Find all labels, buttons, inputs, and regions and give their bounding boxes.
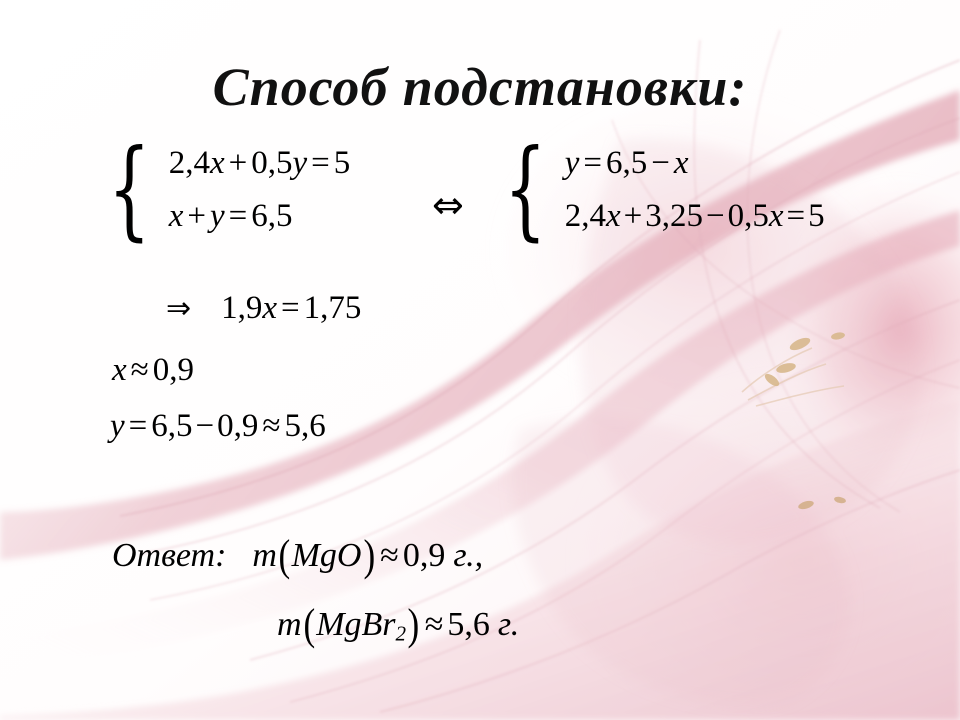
open-paren: ( (278, 530, 290, 581)
coefficient: 1,9 (221, 290, 262, 326)
constant: 3,25 (645, 198, 703, 234)
substance-mgo: MgO (292, 537, 362, 574)
unit-grams: г. (490, 606, 519, 643)
left-brace-substituted: { (504, 146, 547, 235)
coefficient: 2,4 (169, 145, 210, 181)
right-hand-side: 5 (808, 198, 825, 234)
plus-operator: + (621, 198, 646, 234)
plus-operator: + (225, 145, 252, 181)
answer-line-mgbr2: m(MgBr2)≈5,6г. (112, 595, 519, 646)
answer-label: Ответ: (112, 537, 252, 574)
equivalence-arrow-icon: ⇔ (432, 183, 464, 227)
answer-block: Ответ:m(MgO)≈0,9г., m(MgBr2)≈5,6г. (112, 526, 519, 646)
stamen-decoration (742, 331, 846, 510)
equation-system-substituted: { y=6,5−x 2,4x+3,25−0,5x=5 (504, 146, 825, 235)
variable-x: x (769, 198, 784, 234)
variable-x: x (606, 198, 621, 234)
open-paren: ( (303, 599, 315, 650)
approx-operator: ≈ (258, 408, 284, 444)
result-x: x≈0,9 (112, 354, 194, 387)
equals-operator: = (225, 198, 252, 234)
unit-grams: г., (445, 537, 483, 574)
equals-operator: = (277, 290, 304, 326)
variable-y: y (293, 145, 308, 181)
result-y: y=6,5−0,9≈5,6 (110, 410, 326, 443)
plus-operator: + (183, 198, 210, 234)
subscript-2: 2 (396, 621, 407, 645)
mass-value-mgo: 0,9 (403, 537, 446, 574)
variable-x: x (112, 352, 127, 388)
equation-row: 2,4x+3,25−0,5x=5 (565, 200, 825, 233)
minus-operator: − (703, 198, 728, 234)
mass-symbol: m (277, 606, 302, 643)
answer-line-mgo: Ответ:m(MgO)≈0,9г., (112, 526, 519, 577)
equals-operator: = (125, 408, 152, 444)
equals-operator: = (579, 145, 606, 181)
value-x: 0,9 (153, 352, 194, 388)
slide-canvas: Способ подстановки: { 2,4x+0,5y=5 x+y=6,… (0, 0, 960, 720)
right-hand-side: 5 (334, 145, 351, 181)
equals-operator: = (307, 145, 334, 181)
minus-operator: − (647, 145, 674, 181)
right-hand-side: 1,75 (304, 290, 362, 326)
equation-list-original: 2,4x+0,5y=5 x+y=6,5 (163, 146, 351, 235)
left-brace-original: { (108, 146, 151, 235)
right-hand-side: 6,5 (251, 198, 292, 234)
close-paren: ) (363, 530, 375, 581)
minus-operator: − (193, 408, 218, 444)
variable-x: x (169, 198, 184, 234)
variable-x: x (674, 145, 689, 181)
equation-row: y=6,5−x (565, 147, 825, 180)
variable-y: y (565, 145, 580, 181)
approx-operator: ≈ (421, 606, 448, 643)
variable-y: y (210, 198, 225, 234)
variable-y: y (110, 408, 125, 444)
equals-operator: = (784, 198, 809, 234)
mass-value-mgbr2: 5,6 (447, 606, 490, 643)
operand-a: 6,5 (151, 408, 192, 444)
close-paren: ) (408, 599, 420, 650)
equation-row: 2,4x+0,5y=5 (169, 147, 351, 180)
coefficient: 0,5 (728, 198, 769, 234)
equation-row: x+y=6,5 (169, 200, 351, 233)
constant: 6,5 (606, 145, 647, 181)
equation-list-substituted: y=6,5−x 2,4x+3,25−0,5x=5 (559, 146, 825, 235)
coefficient: 2,4 (565, 198, 606, 234)
variable-x: x (210, 145, 225, 181)
mass-symbol: m (252, 537, 277, 574)
slide-title: Способ подстановки: (0, 56, 960, 118)
coefficient: 0,5 (251, 145, 292, 181)
approx-operator: ≈ (376, 537, 403, 574)
substance-mgbr2: MgBr (316, 606, 395, 643)
equation-system-original: { 2,4x+0,5y=5 x+y=6,5 (108, 146, 350, 235)
value-y: 5,6 (285, 408, 326, 444)
operand-b: 0,9 (217, 408, 258, 444)
variable-x: x (262, 290, 277, 326)
implies-arrow-icon: ⇒ (166, 291, 221, 326)
implication-step: ⇒1,9x=1,75 (166, 292, 361, 325)
approx-operator: ≈ (127, 352, 153, 388)
